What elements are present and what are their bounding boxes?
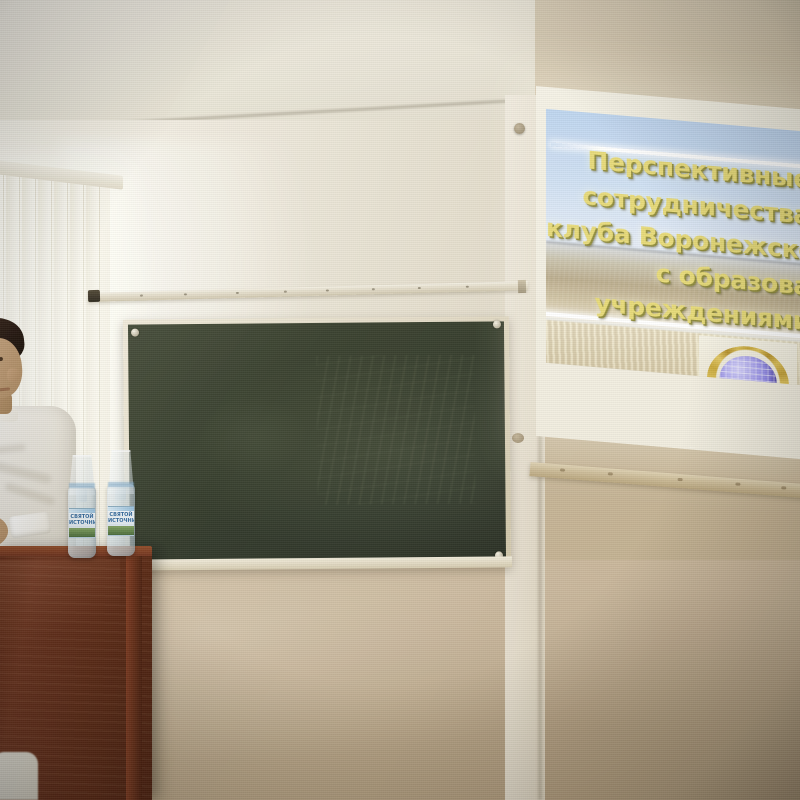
pillar-fixture-icon [514,123,525,134]
podium-side-edge [126,548,142,800]
chalk-smudge [196,395,310,477]
plastic-cup-rim [108,482,134,487]
foreground-white-object [0,752,38,800]
lecture-hall-photo: Перспективные сотрудничества клуба Ворон… [0,0,800,800]
presentation-slide: Перспективные сотрудничества клуба Ворон… [546,109,800,386]
plastic-cup [108,450,134,494]
plastic-cup-rim [69,483,95,488]
board-screw-icon [493,320,501,328]
rail-end-cap-right [518,280,526,293]
water-bottle: СВЯТОЙ ИСТОЧНИК [68,486,96,558]
water-bottle: СВЯТОЙ ИСТОЧНИК [107,484,135,556]
bottle-label-top-band [69,509,95,513]
plastic-cup [69,455,95,495]
projection-screen: Перспективные сотрудничества клуба Ворон… [536,86,800,460]
bottle-label-bottom-band [69,528,95,537]
wall-scuff-marks [690,418,760,448]
slide-title: Перспективные сотрудничества клуба Ворон… [546,139,800,340]
bottle-label-bottom-band [108,526,134,535]
bottle-brand: СВЯТОЙ ИСТОЧНИК [108,512,134,524]
bottle-label: СВЯТОЙ ИСТОЧНИК [69,508,95,538]
blackboard-surface [128,321,506,563]
board-screw-icon [131,329,139,337]
bottle-label-top-band [108,507,134,511]
chalk-residue [316,355,475,505]
bottle-brand: СВЯТОЙ ИСТОЧНИК [69,514,95,526]
bottle-label: СВЯТОЙ ИСТОЧНИК [108,506,134,536]
rail-end-cap-left [88,290,100,302]
pillar-fixture-lower-icon [512,433,524,443]
blackboard-frame [123,316,511,569]
podium-light-highlight [0,560,120,650]
